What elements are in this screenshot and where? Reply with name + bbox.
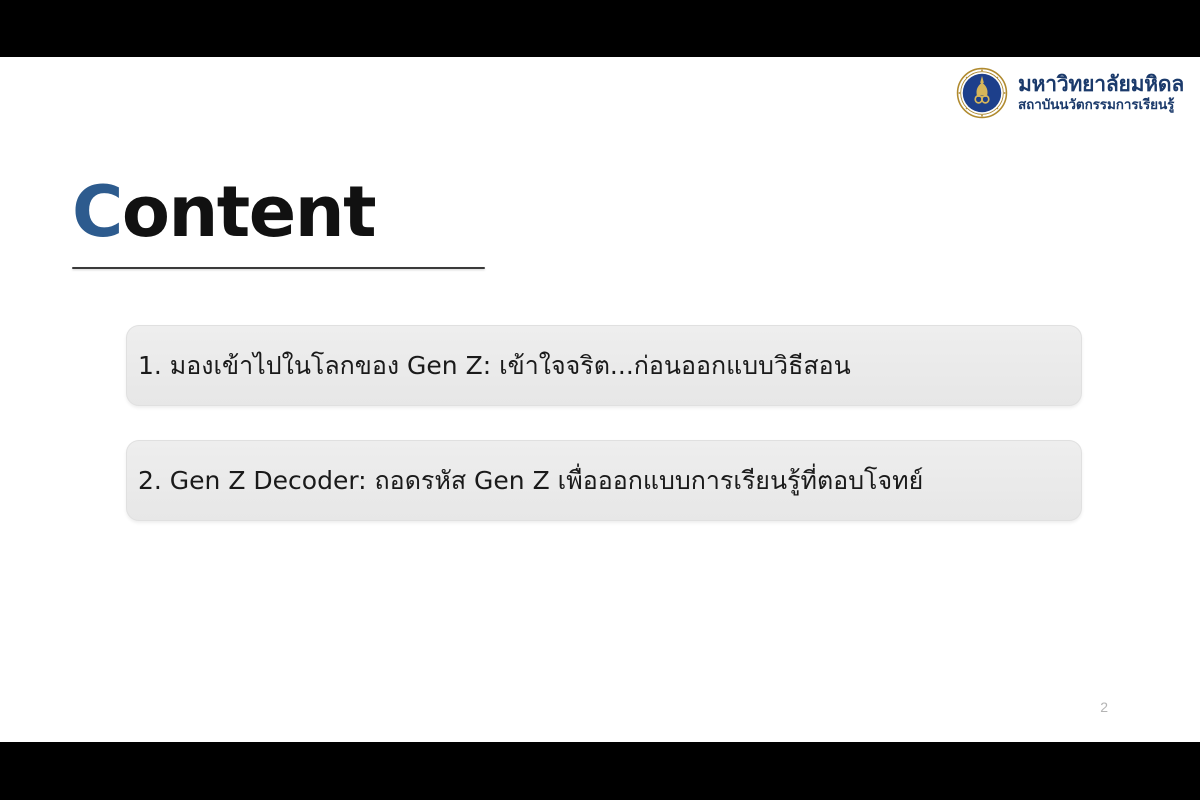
page-title-accent-letter: C xyxy=(72,171,122,253)
content-item-2[interactable]: 2. Gen Z Decoder: ถอดรหัส Gen Z เพื่อออก… xyxy=(126,440,1082,521)
content-item-1[interactable]: 1. มองเข้าไปในโลกของ Gen Z: เข้าใจจริต..… xyxy=(126,325,1082,406)
title-section: Content xyxy=(72,177,672,247)
organization-name: มหาวิทยาลัยมหิดล xyxy=(1018,74,1184,95)
branding-text: มหาวิทยาลัยมหิดล สถาบันนวัตกรรมการเรียนร… xyxy=(1018,74,1184,111)
institute-name: สถาบันนวัตกรรมการเรียนรู้ xyxy=(1018,98,1184,112)
page-number: 2 xyxy=(1100,699,1108,715)
page-title: Content xyxy=(72,177,672,247)
page-title-rest: ontent xyxy=(122,171,375,253)
branding-logo: มหาวิทยาลัยมหิดล สถาบันนวัตกรรมการเรียนร… xyxy=(956,67,1184,119)
content-item-2-label: 2. Gen Z Decoder: ถอดรหัส Gen Z เพื่อออก… xyxy=(138,464,923,498)
content-list: 1. มองเข้าไปในโลกของ Gen Z: เข้าใจจริต..… xyxy=(126,325,1082,521)
content-item-1-label: 1. มองเข้าไปในโลกของ Gen Z: เข้าใจจริต..… xyxy=(138,349,851,383)
mahidol-seal-icon xyxy=(956,67,1008,119)
presentation-slide: มหาวิทยาลัยมหิดล สถาบันนวัตกรรมการเรียนร… xyxy=(0,57,1200,742)
slide-viewer: มหาวิทยาลัยมหิดล สถาบันนวัตกรรมการเรียนร… xyxy=(0,0,1200,800)
letterbox-bar-top xyxy=(0,0,1200,57)
letterbox-bar-bottom xyxy=(0,742,1200,800)
title-underline-rule xyxy=(72,267,485,269)
